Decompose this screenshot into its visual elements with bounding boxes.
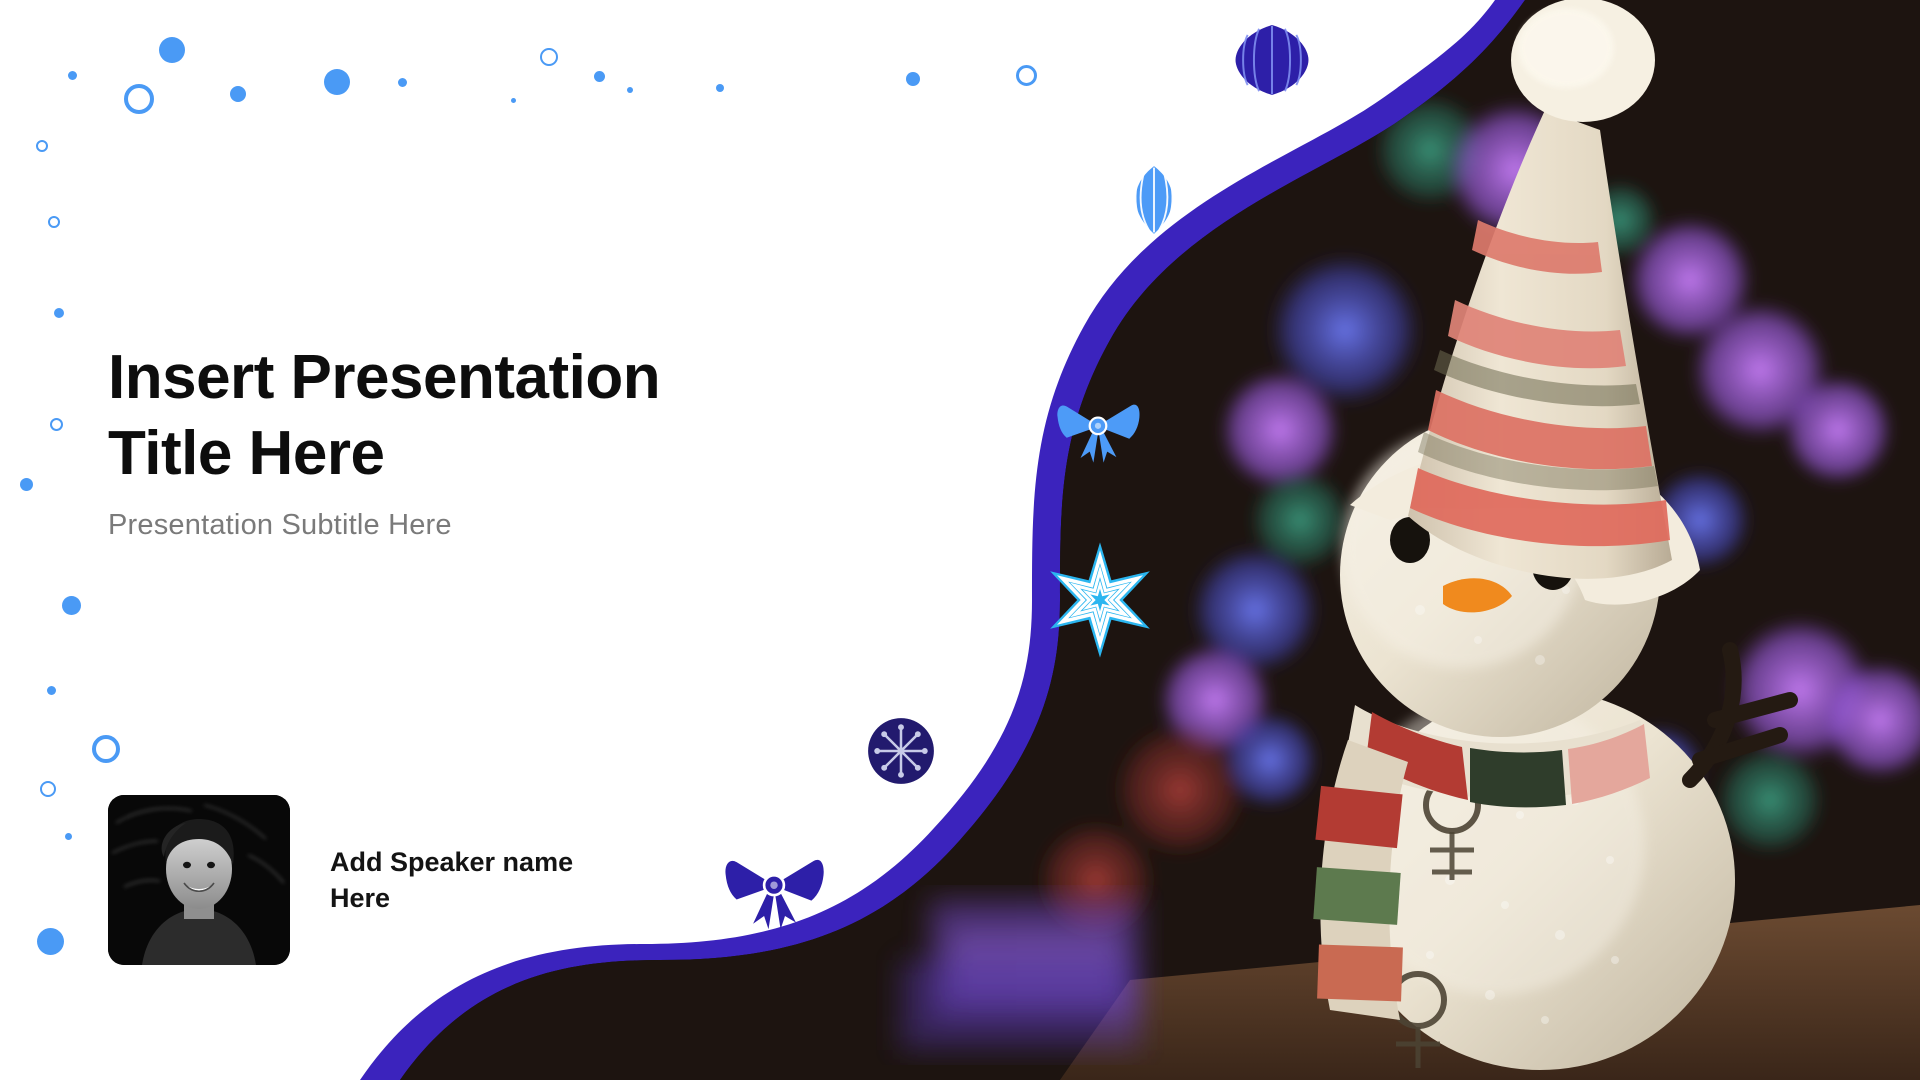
speaker-name: Add Speaker name Here (330, 844, 573, 917)
bow-ornament-light (1040, 378, 1156, 470)
spoke-ball-ornament (866, 716, 936, 786)
bow-ornament-dark (706, 828, 842, 938)
speaker-block: Add Speaker name Here (108, 795, 573, 965)
presentation-slide: Insert Presentation Title Here Presentat… (0, 0, 1920, 1080)
avatar-photo-icon (108, 795, 290, 965)
avatar (108, 795, 290, 965)
page-subtitle: Presentation Subtitle Here (108, 509, 928, 542)
title-group: Insert Presentation Title Here Presentat… (108, 340, 928, 542)
snowflake-star-ornament (1030, 540, 1170, 660)
leaf-ornament-upper (1118, 150, 1190, 250)
lantern-ornament-top (1222, 22, 1322, 98)
page-title: Insert Presentation Title Here (108, 340, 928, 491)
